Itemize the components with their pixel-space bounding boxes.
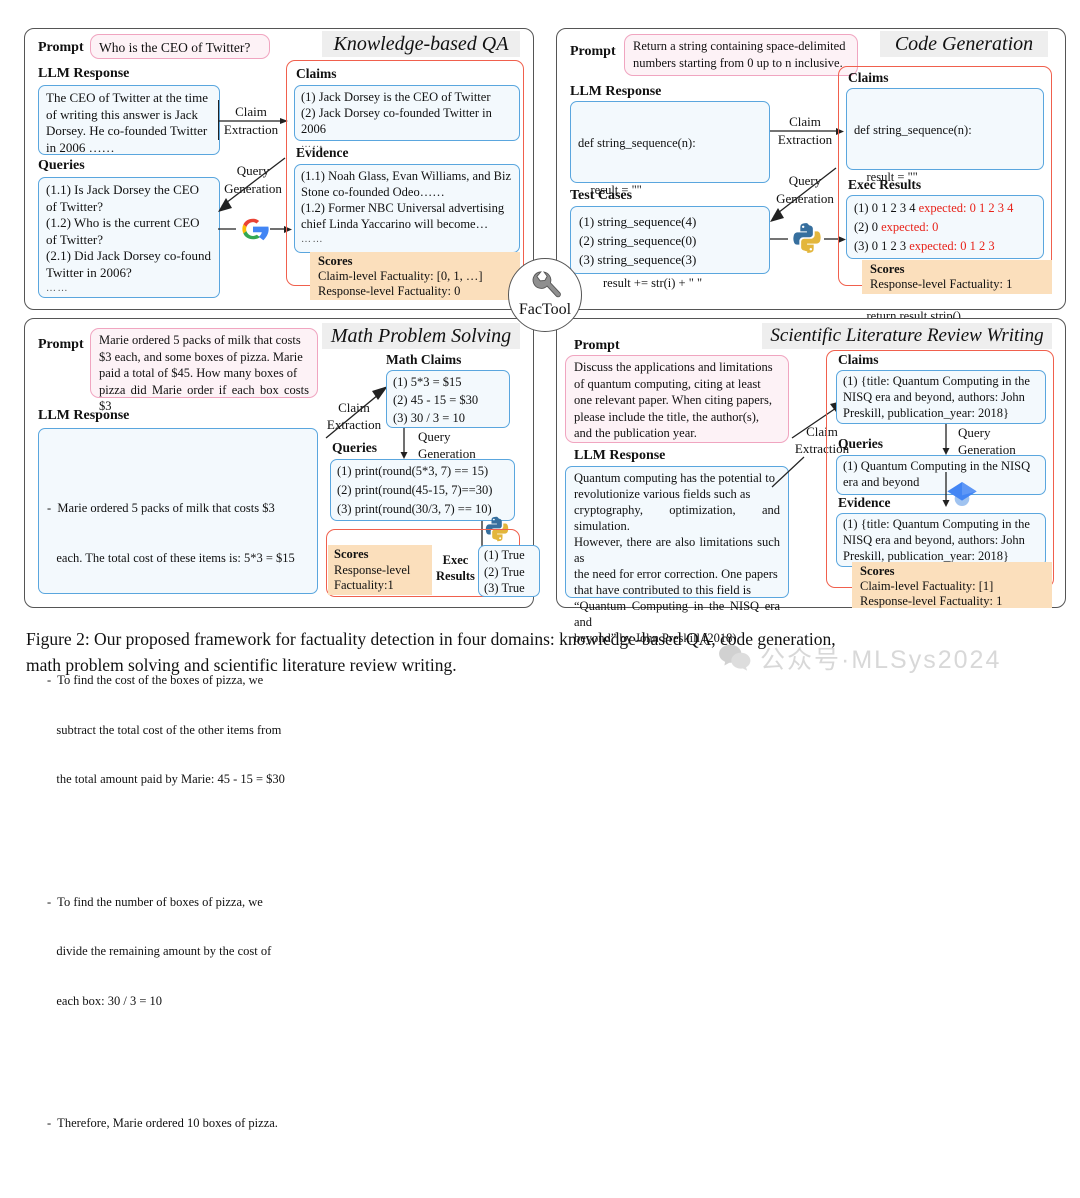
claim-extraction-l1: Claim <box>789 114 821 129</box>
math-claims-box: (1) 5*3 = $15 (2) 45 - 15 = $30 (3) 30 /… <box>386 370 510 428</box>
google-scholar-icon <box>946 478 978 510</box>
qa-query-line: …… <box>46 281 212 298</box>
scores-box-math: Scores Response-level Factuality:1 <box>328 545 432 595</box>
sci-claim-line: Preskill, publication_year: 2018} <box>843 405 1039 421</box>
sci-evidence-line: (1) {title: Quantum Computing in the <box>843 516 1039 532</box>
prompt-text-qa: Who is the CEO of Twitter? <box>99 38 261 57</box>
sci-response-line: that have contributed to this field is <box>574 582 780 598</box>
sci-claim-line: (1) {title: Quantum Computing in the <box>843 373 1039 389</box>
math-query-line: (1) print(round(5*3, 7) == 15) <box>337 462 508 481</box>
math-exec-line: (2) True <box>484 564 534 581</box>
code-response-line: result += str(i) + " " <box>578 276 762 292</box>
prompt-box-sci: Discuss the applications and limitations… <box>565 355 789 443</box>
math-response-item: - Therefore, Marie ordered 10 boxes of p… <box>47 1082 309 1165</box>
sci-score-line: Response-level Factuality: 1 <box>860 594 1044 609</box>
python-logo-icon <box>790 221 824 255</box>
math-prompt-line: $3 each, and some boxes of pizza. Marie <box>99 349 309 366</box>
llm-response-box-sci: Quantum computing has the potential to r… <box>565 466 789 598</box>
code-score-line: Response-level Factuality: 1 <box>870 277 1044 292</box>
code-response-line: def string_sequence(n): <box>578 136 762 152</box>
qa-query-line: Twitter in 2006? <box>46 265 212 282</box>
math-claim-line: (2) 45 - 15 = $30 <box>393 391 503 409</box>
qa-score-line: Response-level Factuality: 0 <box>318 284 512 299</box>
watermark-text: 公众号·MLSys2024 <box>760 640 1001 676</box>
evidence-box-qa: (1.1) Noah Glass, Evan Williams, and Biz… <box>294 164 520 253</box>
query-generation-diag-arrow-qa <box>210 158 290 218</box>
sci-response-line: the need for error correction. One paper… <box>574 566 780 582</box>
math-response-line: each. The total cost of these items is: … <box>47 550 309 567</box>
code-testcase-line: (3) string_sequence(3) <box>579 250 761 269</box>
watermark: 公众号·MLSys2024 <box>718 640 1001 676</box>
code-exec-row: (1) 0 1 2 3 4 expected: 0 1 2 3 4 <box>854 199 1036 218</box>
sci-prompt-line: Discuss the applications and limitations <box>574 359 780 376</box>
scores-box-code: Scores Response-level Factuality: 1 <box>862 260 1052 294</box>
scores-box-qa: Scores Claim-level Factuality: [0, 1, …]… <box>310 252 520 300</box>
exec-actual: (2) 0 <box>854 220 881 234</box>
code-prompt-line: numbers starting from 0 up to n inclusiv… <box>633 55 849 72</box>
claim-extraction-l1: Claim <box>235 104 267 119</box>
math-claim-line: (3) 30 / 3 = 10 <box>393 409 503 427</box>
qa-query-line: (1.2) Who is the current CEO <box>46 215 212 232</box>
llm-response-box-qa: The CEO of Twitter at the time of writin… <box>38 85 220 155</box>
evidence-label-qa: Evidence <box>296 145 349 161</box>
math-score-line: Factuality:1 <box>334 578 426 594</box>
scores-label-qa: Scores <box>318 254 512 269</box>
math-prompt-line: pizza did Marie order if each box costs … <box>99 382 309 415</box>
qa-response-line: in 2006 …… <box>46 140 212 157</box>
qa-score-line: Claim-level Factuality: [0, 1, …] <box>318 269 512 284</box>
exec-label-l1: Exec <box>443 553 469 567</box>
math-prompt-line: paid a total of $45. How many boxes of <box>99 365 309 382</box>
query-generation-label-sci: Query Generation <box>958 424 1046 458</box>
evidence-box-sci: (1) {title: Quantum Computing in the NIS… <box>836 513 1046 567</box>
qa-response-line: of writing this answer is Jack <box>46 107 212 124</box>
query-generation-diag-arrow-code <box>762 168 842 228</box>
math-response-item: - Marie ordered 5 packs of milk that cos… <box>47 467 309 599</box>
claim-extraction-l2: Extraction <box>224 122 278 137</box>
wrench-icon <box>527 267 563 303</box>
prompt-label-math: Prompt <box>38 337 84 353</box>
query-generation-label-math: Query Generation <box>418 428 498 462</box>
qa-claim-line: (2) Jack Dorsey co-founded Twitter in 20… <box>301 105 513 137</box>
sci-query-line: era and beyond <box>843 474 1039 490</box>
claim-extraction-stem-qa <box>218 100 219 140</box>
code-claim-line: def string_sequence(n): <box>854 123 1036 139</box>
sci-response-line: However, there are also limitations such… <box>574 534 780 566</box>
panel-title-sci: Scientific Literature Review Writing <box>762 323 1052 349</box>
sci-prompt-line: and the publication year. <box>574 425 780 442</box>
claim-extraction-arrow-qa <box>218 118 290 124</box>
math-prompt-line: Marie ordered 5 packs of milk that costs <box>99 332 309 349</box>
sci-prompt-line: please include the title, the author(s), <box>574 409 780 426</box>
google-search-icon <box>236 212 270 246</box>
code-testcase-line: (2) string_sequence(0) <box>579 231 761 250</box>
math-response-line: each box: 30 / 3 = 10 <box>47 993 309 1010</box>
panel-title-math: Math Problem Solving <box>322 323 520 349</box>
claims-label-qa: Claims <box>296 66 337 82</box>
scores-label-math: Scores <box>334 547 426 563</box>
query-generation-arrow-math <box>400 428 408 460</box>
math-response-line: divide the remaining amount by the cost … <box>47 943 309 960</box>
qa-query-line: (1.1) Is Jack Dorsey the CEO <box>46 182 212 199</box>
math-score-line: Response-level <box>334 563 426 579</box>
qa-response-line: Dorsey. He co-founded Twitter <box>46 123 212 140</box>
claims-box-code: def string_sequence(n): result = "" for … <box>846 88 1044 170</box>
math-response-item: - To find the number of boxes of pizza, … <box>47 861 309 1043</box>
qa-evidence-line: chief Linda Yaccarino will become… <box>301 216 513 232</box>
prompt-box-qa: Who is the CEO of Twitter? <box>90 34 270 59</box>
factool-logo: FacTool <box>508 258 582 332</box>
query-generation-l1: Query <box>418 429 451 444</box>
code-testcase-line: (1) string_sequence(4) <box>579 212 761 231</box>
prompt-label-sci: Prompt <box>574 338 620 354</box>
math-response-line: subtract the total cost of the other ite… <box>47 722 309 739</box>
queries-label-sci: Queries <box>838 436 883 452</box>
claims-box-sci: (1) {title: Quantum Computing in the NIS… <box>836 370 1046 424</box>
math-response-line: - Therefore, Marie ordered 10 boxes of p… <box>47 1115 309 1132</box>
math-response-line: the total amount paid by Marie: 45 - 15 … <box>47 771 309 788</box>
qa-evidence-line: (1.1) Noah Glass, Evan Williams, and Biz <box>301 168 513 184</box>
llm-response-box-code: def string_sequence(n): result = "" for … <box>570 101 770 183</box>
qa-query-line: (2.1) Did Jack Dorsey co-found <box>46 248 212 265</box>
qa-response-line: The CEO of Twitter at the time <box>46 90 212 107</box>
exec-expected: expected: 0 1 2 3 <box>909 239 994 253</box>
qa-evidence-line: …… <box>301 232 513 248</box>
claims-box-qa: (1) Jack Dorsey is the CEO of Twitter (2… <box>294 85 520 141</box>
sci-query-line: (1) Quantum Computing in the NISQ <box>843 458 1039 474</box>
query-generation-l1: Query <box>958 425 991 440</box>
factool-logo-label: FacTool <box>509 301 581 319</box>
prompt-label-code: Prompt <box>570 44 616 60</box>
math-exec-line: (1) True <box>484 547 534 564</box>
qa-query-line: of Twitter? <box>46 232 212 249</box>
llm-response-label-sci: LLM Response <box>574 448 665 464</box>
exec-expected: expected: 0 <box>881 220 938 234</box>
math-claim-line: (1) 5*3 = $15 <box>393 373 503 391</box>
claim-extraction-diag-arrow-math <box>322 386 392 442</box>
prompt-box-code: Return a string containing space-delimit… <box>624 34 858 76</box>
claim-extraction-diag-arrow-sci-2 <box>770 455 810 489</box>
qa-claim-line: (1) Jack Dorsey is the CEO of Twitter <box>301 89 513 105</box>
qa-query-line: of Twitter? <box>46 199 212 216</box>
sci-prompt-line: of quantum computing, citing at least <box>574 376 780 393</box>
math-response-line: - To find the number of boxes of pizza, … <box>47 894 309 911</box>
sci-response-line: Quantum computing has the potential to <box>574 470 780 486</box>
exec-results-box-code: (1) 0 1 2 3 4 expected: 0 1 2 3 4 (2) 0 … <box>846 195 1044 259</box>
query-generation-arrow-sci <box>942 424 950 456</box>
sci-response-line: revolutionize various fields such as <box>574 486 780 502</box>
sci-claim-line: NISQ era and beyond, authors: John <box>843 389 1039 405</box>
prompt-label-qa: Prompt <box>38 40 84 56</box>
exec-expected: expected: 0 1 2 3 4 <box>919 201 1014 215</box>
code-exec-row: (2) 0 expected: 0 <box>854 218 1036 237</box>
llm-response-label-code: LLM Response <box>570 84 661 100</box>
scores-box-sci: Scores Claim-level Factuality: [1] Respo… <box>852 562 1052 608</box>
sci-score-line: Claim-level Factuality: [1] <box>860 579 1044 594</box>
test-cases-box-code: (1) string_sequence(4) (2) string_sequen… <box>570 206 770 274</box>
test-cases-label-code: Test Cases <box>570 188 632 204</box>
exec-actual: (3) 0 1 2 3 <box>854 239 909 253</box>
evidence-label-sci: Evidence <box>838 495 891 511</box>
exec-results-box-math: (1) True (2) True (3) True <box>478 545 540 597</box>
math-exec-line: (3) True <box>484 580 534 597</box>
exec-results-label-math: Exec Results <box>436 552 475 584</box>
claim-extraction-arrow-code <box>770 128 846 135</box>
claims-label-code: Claims <box>848 70 889 86</box>
llm-response-box-math: - Marie ordered 5 packs of milk that cos… <box>38 428 318 594</box>
panel-title-code: Code Generation <box>880 31 1048 57</box>
llm-response-label-math: LLM Response <box>38 408 129 424</box>
sci-evidence-line: NISQ era and beyond, authors: John <box>843 532 1039 548</box>
claims-label-sci: Claims <box>838 352 879 368</box>
scores-label-code: Scores <box>870 262 1044 277</box>
math-response-line: - Marie ordered 5 packs of milk that cos… <box>47 500 309 517</box>
qa-evidence-line: Stone co-founded Odeo…… <box>301 184 513 200</box>
sci-response-line: cryptography, optimization, and simulati… <box>574 502 780 534</box>
queries-box-math: (1) print(round(5*3, 7) == 15) (2) print… <box>330 459 515 521</box>
panel-title-qa: Knowledge-based QA <box>322 31 520 57</box>
prompt-box-math: Marie ordered 5 packs of milk that costs… <box>90 328 318 398</box>
scores-label-sci: Scores <box>860 564 1044 579</box>
exec-label-l2: Results <box>436 569 475 583</box>
math-query-line: (2) print(round(45-15, 7)==30) <box>337 481 508 500</box>
exec-results-label-code: Exec Results <box>848 177 921 193</box>
llm-response-label-qa: LLM Response <box>38 66 129 82</box>
wechat-icon <box>718 643 752 673</box>
code-prompt-line: Return a string containing space-delimit… <box>633 38 849 55</box>
code-exec-row: (3) 0 1 2 3 expected: 0 1 2 3 <box>854 237 1036 256</box>
queries-label-math: Queries <box>332 440 377 456</box>
math-claims-label: Math Claims <box>386 352 461 368</box>
qa-evidence-line: (1.2) Former NBC Universal advertising <box>301 200 513 216</box>
queries-label-qa: Queries <box>38 158 85 174</box>
sci-prompt-line: one relevant paper. When citing papers, <box>574 392 780 409</box>
queries-box-qa: (1.1) Is Jack Dorsey the CEO of Twitter?… <box>38 177 220 298</box>
queries-box-sci: (1) Quantum Computing in the NISQ era an… <box>836 455 1046 495</box>
exec-actual: (1) 0 1 2 3 4 <box>854 201 919 215</box>
